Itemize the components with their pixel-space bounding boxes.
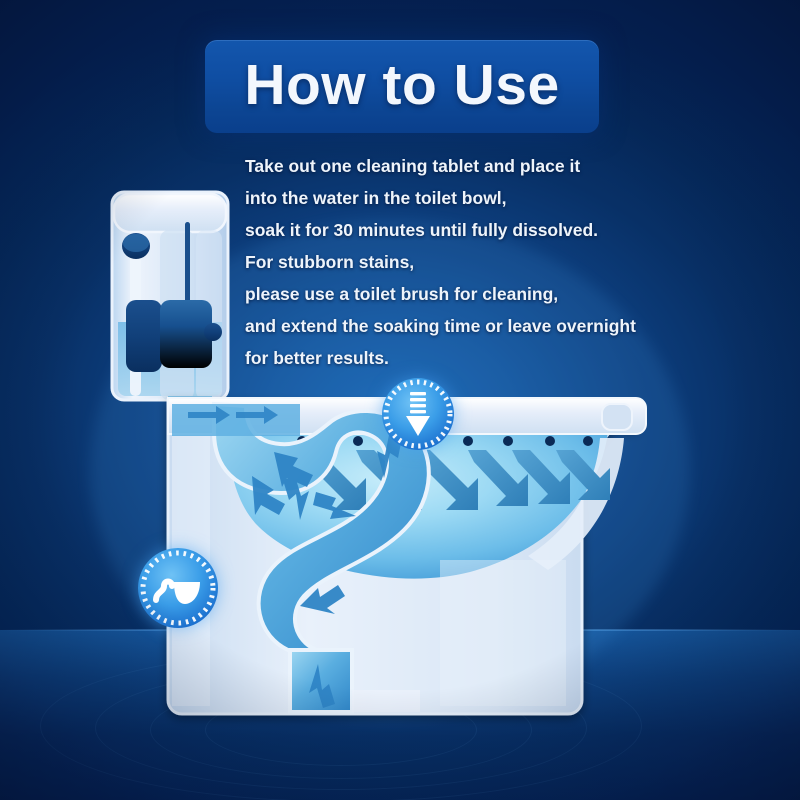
instruction-line: Take out one cleaning tablet and place i… <box>245 150 715 182</box>
infographic-canvas: How to Use Take out one cleaning tablet … <box>0 0 800 800</box>
page-title: How to Use <box>244 57 559 114</box>
instruction-line: soak it for 30 minutes until fully disso… <box>245 214 715 246</box>
instruction-line: into the water in the toilet bowl, <box>245 182 715 214</box>
instruction-line: For stubborn stains, <box>245 246 715 278</box>
instructions-block: Take out one cleaning tablet and place i… <box>245 150 715 374</box>
title-banner: How to Use <box>205 40 599 133</box>
instruction-line: for better results. <box>245 342 715 374</box>
instruction-line: and extend the soaking time or leave ove… <box>245 310 715 342</box>
instruction-line: please use a toilet brush for cleaning, <box>245 278 715 310</box>
